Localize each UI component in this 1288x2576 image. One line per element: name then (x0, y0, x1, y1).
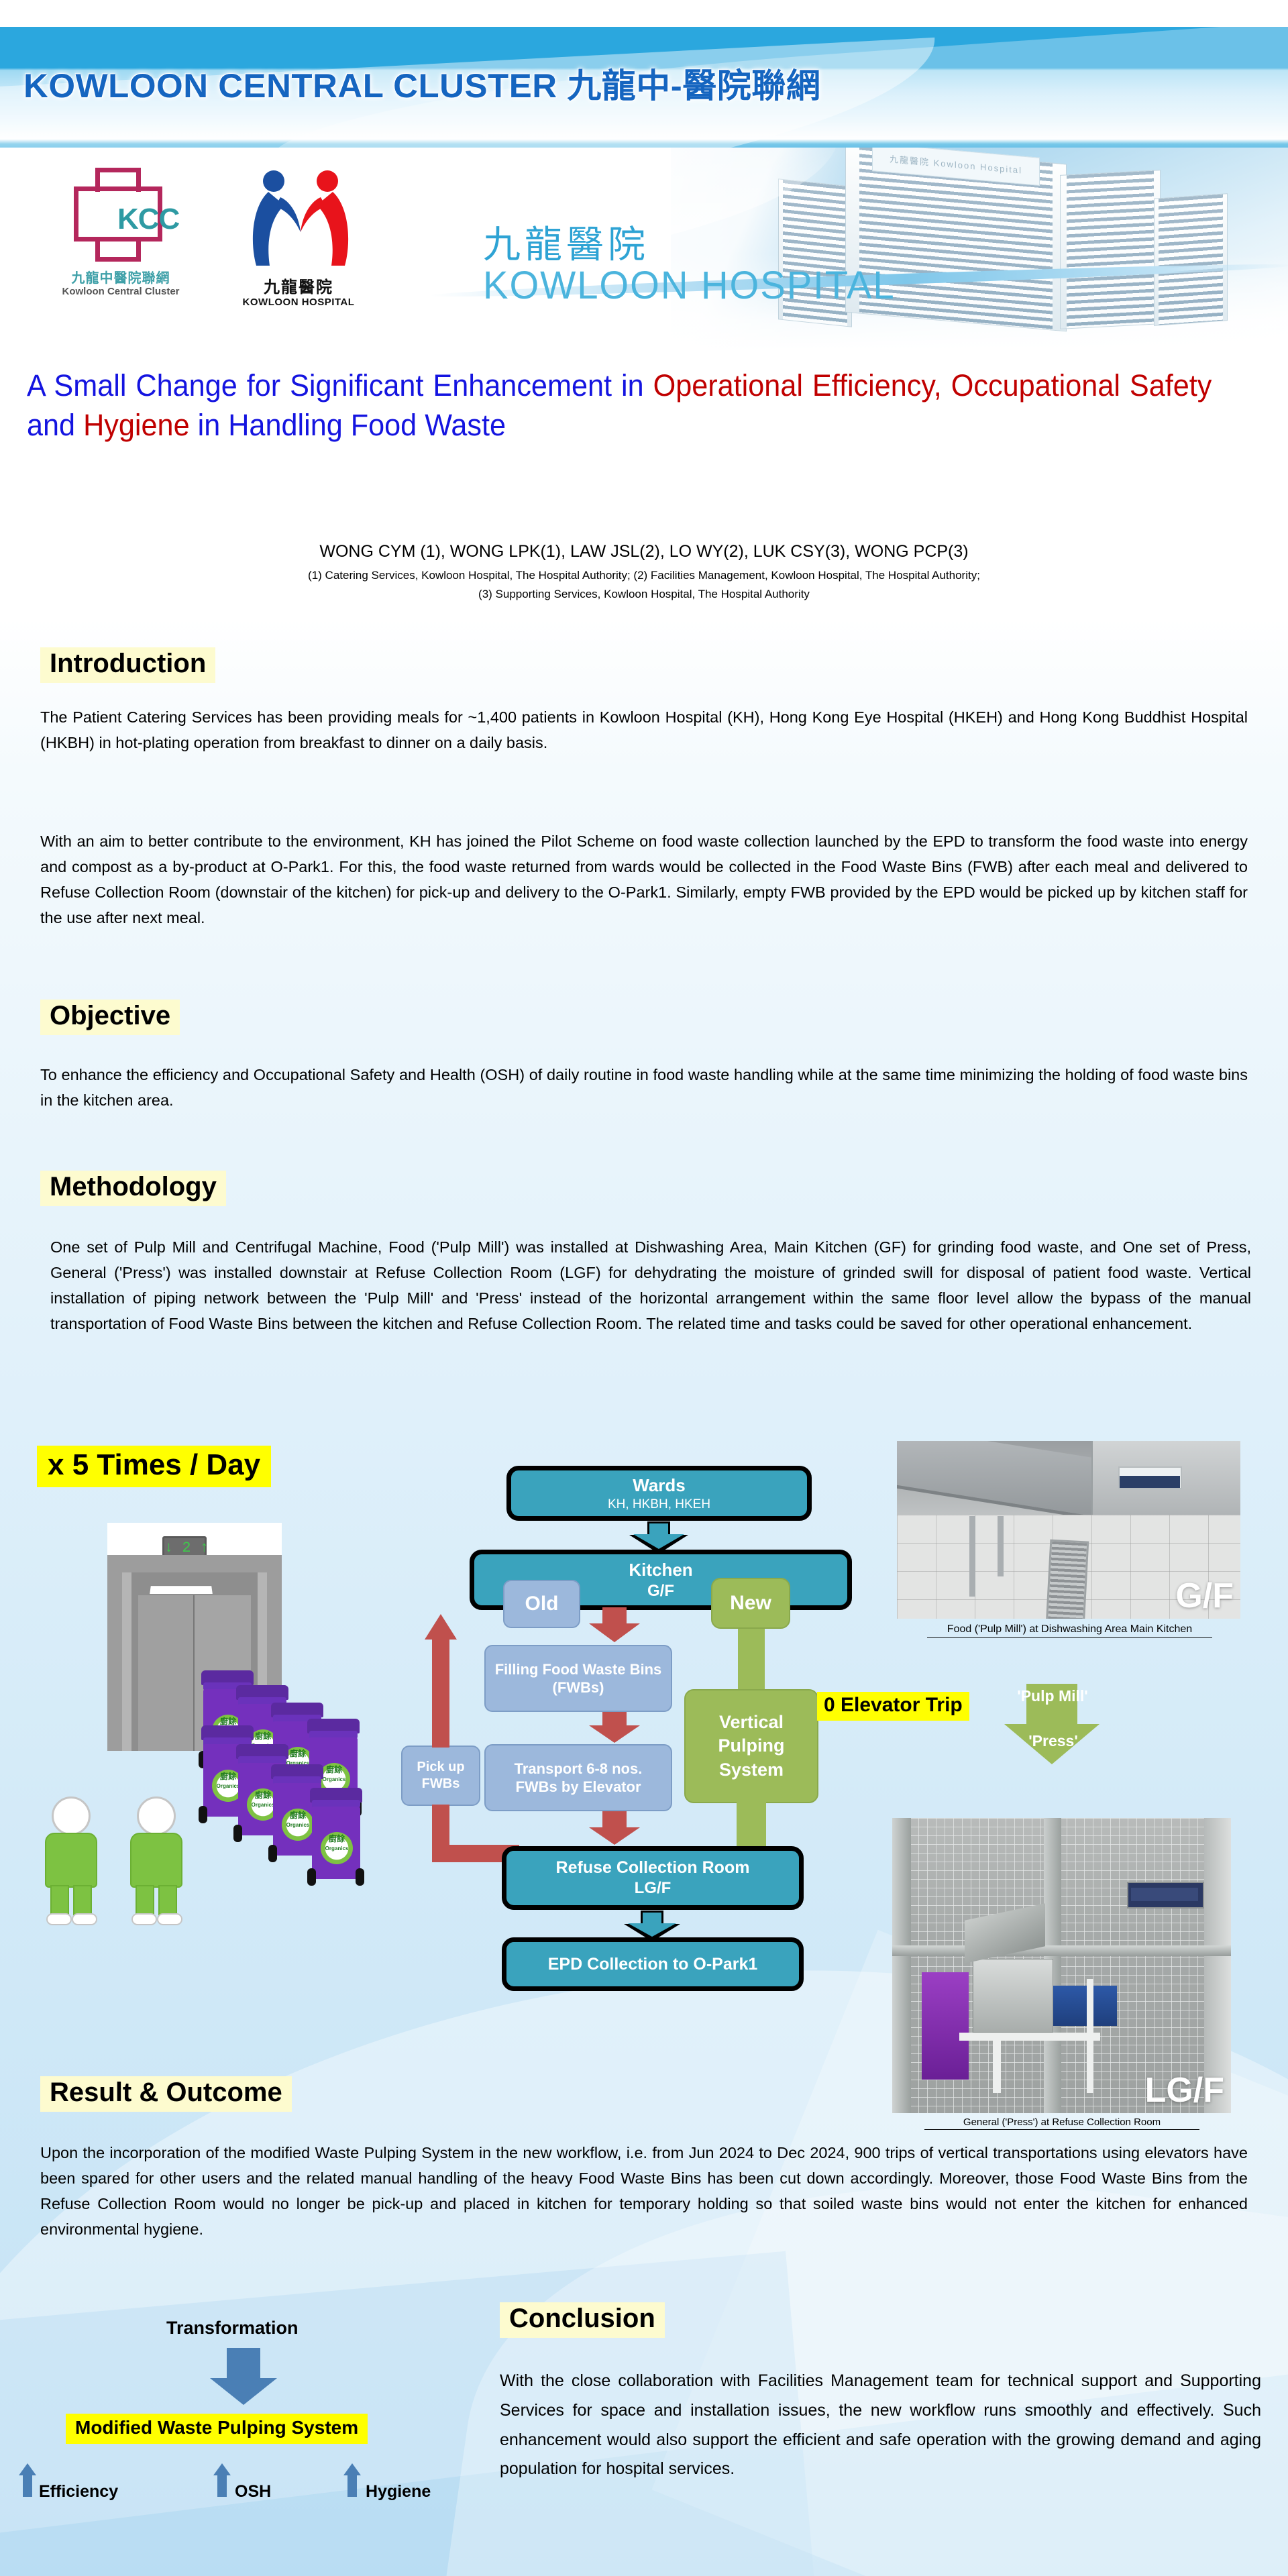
affiliation-line-2: (3) Supporting Services, Kowloon Hospita… (67, 588, 1221, 601)
transformation-arrow-head (210, 2378, 277, 2405)
photo-floor-label-lgf: LG/F (1145, 2070, 1224, 2110)
poster-canvas: KOWLOON CENTRAL CLUSTER 九龍中-醫院聯網 九龍醫院 Ko… (0, 0, 1288, 2576)
kh-name-english: KOWLOON HOSPITAL (221, 297, 376, 308)
pickup-fwbs-label: Pick up FWBs (402, 1759, 479, 1792)
photo-floor-label-gf: G/F (1175, 1576, 1234, 1616)
introduction-paragraph-1: The Patient Catering Services has been p… (40, 704, 1248, 755)
zero-elevator-trip-badge: 0 Elevator Trip (817, 1692, 969, 1721)
modified-waste-pulping-system-badge: Modified Waste Pulping System (66, 2414, 368, 2444)
flow-node-vertical-pulping-system: Vertical Pulping System (684, 1689, 818, 1803)
pulp-mill-tag: 'Pulp Mill' (1009, 1687, 1096, 1705)
flow-node-refuse-collection-room: Refuse Collection Room LG/F (502, 1846, 804, 1910)
elevator-door-left (138, 1595, 195, 1751)
organics-bin-icon: 廚餘Organics (282, 1809, 314, 1841)
arrow-head-wards-kitchen (633, 1534, 684, 1549)
arrow-head-refuse-epd (628, 1923, 676, 1937)
building-block-right (1060, 170, 1161, 329)
up-arrow-icon-efficiency (19, 2463, 36, 2497)
objective-heading: Objective (40, 1000, 180, 1035)
hospital-wordmark-chinese: 九龍醫院 (483, 215, 649, 269)
old-tag-label: Old (525, 1593, 559, 1615)
flow-node-epd-collection: EPD Collection to O-Park1 (502, 1937, 804, 1991)
kcc-name-chinese: 九龍中醫院聯網 (40, 267, 201, 286)
flow-node-wards: Wards KH, HKBH, HKEH (506, 1466, 812, 1521)
epd-collection-label: EPD Collection to O-Park1 (548, 1955, 758, 1974)
return-path-arrow-head (425, 1614, 457, 1640)
arrow-head-filling-transport (589, 1725, 640, 1743)
kowloon-hospital-logo: 九龍醫院 KOWLOON HOSPITAL (221, 168, 376, 329)
food-waste-bin: 廚餘Organics (310, 1788, 362, 1882)
old-workflow-tag: Old (503, 1580, 580, 1628)
press-tag: 'Press' (1006, 1732, 1100, 1750)
author-list: WONG CYM (1), WONG LPK(1), LAW JSL(2), L… (94, 542, 1194, 561)
elevator-display-value: ↓ 2 ↑ (164, 1540, 209, 1556)
staff-figure (127, 1796, 185, 1924)
conclusion-heading: Conclusion (500, 2302, 665, 2338)
title-part-3: and (27, 408, 83, 442)
result-heading: Result & Outcome (40, 2076, 292, 2112)
title-part-4: Hygiene (83, 408, 190, 442)
connector-new-vertical-pulping (738, 1623, 765, 1690)
title-part-2: Operational Efficiency, Occupational Saf… (653, 368, 1212, 402)
conclusion-paragraph: With the close collaboration with Facili… (500, 2367, 1261, 2484)
affiliation-line-1: (1) Catering Services, Kowloon Hospital,… (67, 569, 1221, 582)
arrow-head-transport-refuse (589, 1827, 640, 1845)
photo-pulp-mill-kitchen: G/F (897, 1441, 1240, 1619)
refuse-room-subtitle: LG/F (635, 1879, 672, 1898)
wards-title: Wards (633, 1475, 686, 1496)
kcc-abbreviation: KCC (117, 203, 179, 236)
two-figures-heart-icon (240, 168, 361, 268)
photo-press-refuse-room: LG/F (892, 1818, 1231, 2113)
arrow-head-kitchen-filling (589, 1623, 640, 1642)
methodology-paragraph: One set of Pulp Mill and Centrifugal Mac… (50, 1234, 1251, 1336)
photo-caption-pulp-mill: Food ('Pulp Mill') at Dishwashing Area M… (927, 1623, 1212, 1638)
introduction-heading: Introduction (40, 647, 215, 683)
transport-fwbs-label: Transport 6-8 nos. FWBs by Elevator (492, 1760, 664, 1796)
photo-caption-press: General ('Press') at Refuse Collection R… (924, 2116, 1199, 2130)
kitchen-title: Kitchen (629, 1560, 692, 1580)
vertical-pulping-label: Vertical Pulping System (686, 1711, 817, 1781)
methodology-heading: Methodology (40, 1171, 226, 1206)
title-part-5: in Handling Food Waste (190, 408, 506, 442)
header-banner: KOWLOON CENTRAL CLUSTER 九龍中-醫院聯網 (0, 27, 1288, 148)
kcc-name-english: Kowloon Central Cluster (40, 286, 201, 297)
transformation-label: Transformation (166, 2318, 299, 2339)
objective-paragraph: To enhance the efficiency and Occupation… (40, 1062, 1248, 1113)
kh-name-chinese: 九龍醫院 (221, 274, 376, 297)
filling-fwbs-label: Filling Food Waste Bins (FWBs) (494, 1660, 663, 1697)
introduction-paragraph-2: With an aim to better contribute to the … (40, 828, 1248, 930)
poster-title: A Small Change for Significant Enhanceme… (27, 366, 1212, 445)
frequency-badge: x 5 Times / Day (37, 1446, 271, 1487)
organics-bin-icon: 廚餘Organics (321, 1832, 353, 1864)
result-paragraph: Upon the incorporation of the modified W… (40, 2140, 1248, 2242)
refuse-room-title: Refuse Collection Room (556, 1858, 750, 1878)
elevator-ceiling-lamp (148, 1585, 214, 1595)
kpi-efficiency: Efficiency (39, 2482, 118, 2502)
kitchen-subtitle: G/F (647, 1582, 674, 1601)
building-block-far (1154, 193, 1228, 326)
transformation-arrow-shaft (227, 2348, 260, 2381)
kpi-osh: OSH (235, 2482, 271, 2502)
banner-title: KOWLOON CENTRAL CLUSTER 九龍中-醫院聯網 (23, 59, 1050, 107)
up-arrow-icon-osh (213, 2463, 231, 2497)
kcc-logo: KCC 九龍中醫院聯網 Kowloon Central Cluster (40, 168, 201, 329)
staff-figure (42, 1796, 100, 1924)
up-arrow-icon-hygiene (343, 2463, 361, 2497)
new-workflow-tag: New (711, 1578, 790, 1629)
title-part-1: A Small Change for Significant Enhanceme… (27, 368, 653, 402)
wards-subtitle: KH, HKBH, HKEH (608, 1497, 710, 1512)
flow-node-transport-fwbs: Transport 6-8 nos. FWBs by Elevator (484, 1744, 672, 1811)
new-tag-label: New (730, 1592, 771, 1615)
flow-node-filling-fwbs: Filling Food Waste Bins (FWBs) (484, 1645, 672, 1712)
kpi-hygiene: Hygiene (366, 2482, 431, 2502)
return-path-vertical (432, 1637, 449, 1748)
flow-node-pickup-fwbs: Pick up FWBs (401, 1746, 480, 1806)
hospital-wordmark-english: KOWLOON HOSPITAL (483, 263, 896, 308)
